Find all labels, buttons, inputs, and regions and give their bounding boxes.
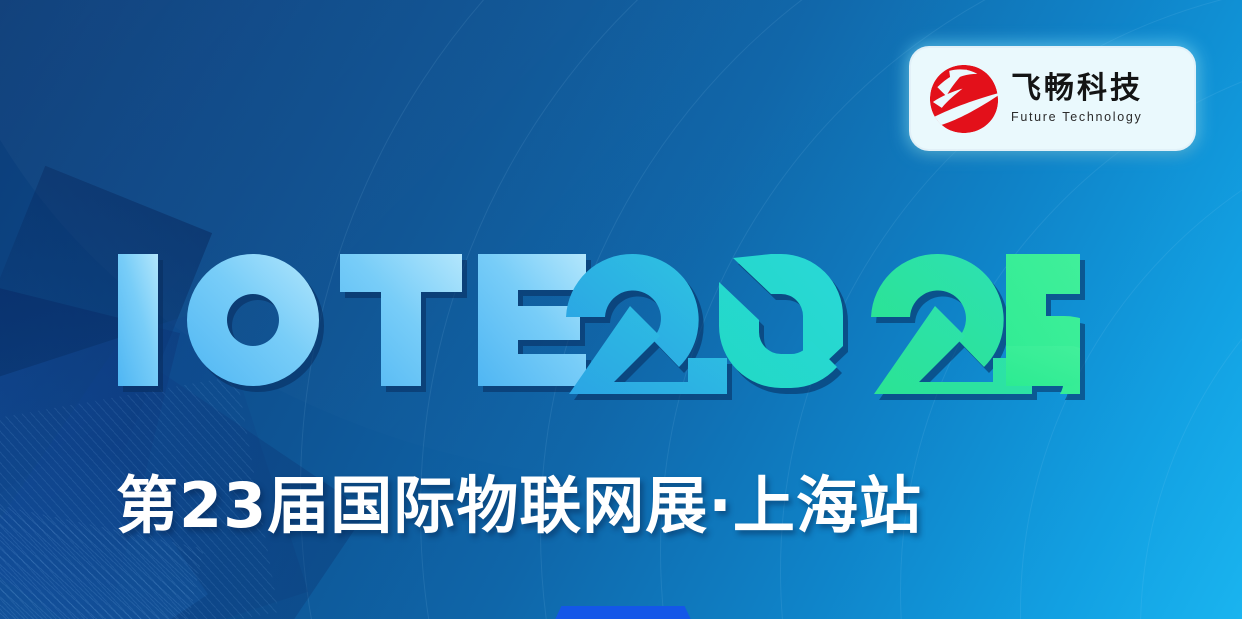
background-arc-8 [1140,160,1242,619]
bottom-accent-tab [553,606,693,619]
iote-2025-banner: 第23届国际物联网展·上海站 [0,0,1242,619]
company-name-en: Future Technology [1011,111,1143,124]
company-name-cn: 飞畅科技 [1011,74,1143,104]
iote-2025-logotype [118,246,1080,394]
sponsor-logo-badge[interactable]: 飞畅科技 Future Technology [911,48,1194,149]
sponsor-logo-text: 飞畅科技 Future Technology [1011,74,1143,124]
feichang-swoosh-icon [927,62,1001,136]
page-subtitle: 第23届国际物联网展·上海站 [116,455,922,545]
headline-wordmark [118,246,1080,394]
